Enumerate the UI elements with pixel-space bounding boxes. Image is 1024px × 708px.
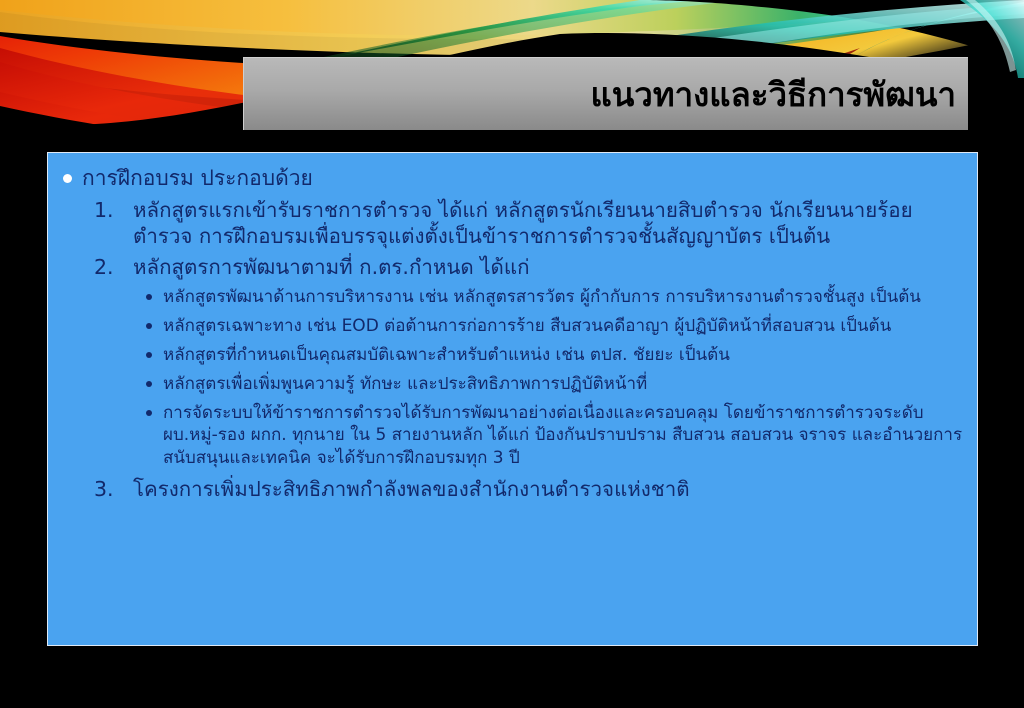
- sub-list-item: หลักสูตรเพื่อเพิ่มพูนความรู้ ทักษะ และปร…: [143, 373, 963, 395]
- list-item-text: หลักสูตรแรกเข้ารับราชการตำรวจ ได้แก่ หลั…: [133, 198, 913, 248]
- sub-bullet-icon: [146, 323, 152, 329]
- bullet-icon: [63, 174, 72, 183]
- sub-list-item-text: หลักสูตรพัฒนาด้านการบริหารงาน เช่น หลักส…: [163, 287, 921, 307]
- list-item: หลักสูตรการพัฒนาตามที่ ก.ตร.กำหนด ได้แก่…: [86, 254, 963, 469]
- sub-list-item: หลักสูตรเฉพาะทาง เช่น EOD ต่อต้านการก่อก…: [143, 315, 963, 337]
- sub-bullet-icon: [146, 410, 152, 416]
- content-heading-label: การฝึกอบรม ประกอบด้วย: [82, 166, 313, 190]
- list-item: หลักสูตรแรกเข้ารับราชการตำรวจ ได้แก่ หลั…: [86, 197, 963, 249]
- sub-list-item: หลักสูตรพัฒนาด้านการบริหารงาน เช่น หลักส…: [143, 286, 963, 308]
- sub-list-item-text: หลักสูตรเฉพาะทาง เช่น EOD ต่อต้านการก่อก…: [163, 316, 891, 336]
- sub-list-item-text: หลักสูตรเพื่อเพิ่มพูนความรู้ ทักษะ และปร…: [163, 374, 647, 394]
- sub-bullet-icon: [146, 381, 152, 387]
- presentation-slide: แนวทางและวิธีการพัฒนา การฝึกอบรม ประกอบด…: [0, 0, 1024, 708]
- sub-list-item: การจัดระบบให้ข้าราชการตำรวจได้รับการพัฒน…: [143, 402, 963, 468]
- sub-list-item: หลักสูตรที่กำหนดเป็นคุณสมบัติเฉพาะสำหรับ…: [143, 344, 963, 366]
- list-item: โครงการเพิ่มประสิทธิภาพกำลังพลของสำนักงา…: [86, 476, 963, 502]
- sub-bullet-list: หลักสูตรพัฒนาด้านการบริหารงาน เช่น หลักส…: [133, 286, 963, 469]
- content-heading: การฝึกอบรม ประกอบด้วย: [56, 165, 963, 191]
- list-item-text: โครงการเพิ่มประสิทธิภาพกำลังพลของสำนักงา…: [133, 477, 690, 501]
- sub-list-item-text: หลักสูตรที่กำหนดเป็นคุณสมบัติเฉพาะสำหรับ…: [163, 345, 730, 365]
- sub-bullet-icon: [146, 352, 152, 358]
- content-panel: การฝึกอบรม ประกอบด้วย หลักสูตรแรกเข้ารับ…: [47, 152, 978, 646]
- sub-list-item-text: การจัดระบบให้ข้าราชการตำรวจได้รับการพัฒน…: [163, 403, 962, 467]
- list-item-text: หลักสูตรการพัฒนาตามที่ ก.ตร.กำหนด ได้แก่: [133, 255, 529, 279]
- slide-title-bar: แนวทางและวิธีการพัฒนา: [243, 57, 968, 130]
- page-title: แนวทางและวิธีการพัฒนา: [590, 78, 968, 111]
- numbered-list: หลักสูตรแรกเข้ารับราชการตำรวจ ได้แก่ หลั…: [56, 197, 963, 502]
- sub-bullet-icon: [146, 294, 152, 300]
